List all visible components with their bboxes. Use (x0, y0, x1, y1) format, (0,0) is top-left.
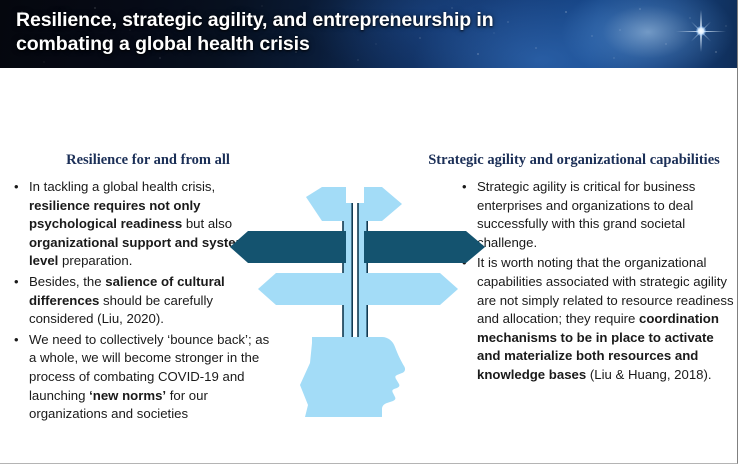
bullet-item: •It is worth noting that the organizatio… (462, 254, 734, 384)
bullet-marker: • (14, 178, 29, 197)
sign-top-arrow (306, 187, 402, 221)
signpost-head-graphic (230, 185, 492, 417)
right-column-bullets: •Strategic agility is critical for busin… (462, 178, 734, 387)
page-title: Resilience, strategic agility, and entre… (16, 8, 646, 56)
head-profile-icon (300, 337, 405, 417)
title-banner: Resilience, strategic agility, and entre… (0, 0, 738, 68)
right-column-heading: Strategic agility and organizational cap… (412, 152, 736, 169)
slide-canvas: Resilience, strategic agility, and entre… (0, 0, 738, 464)
bullet-item: •Strategic agility is critical for busin… (462, 178, 734, 252)
bullet-marker: • (14, 273, 29, 292)
bullet-marker: • (14, 331, 29, 350)
bullet-text: It is worth noting that the organization… (477, 254, 734, 384)
left-column-heading: Resilience for and from all (22, 152, 274, 169)
bullet-text: Strategic agility is critical for busine… (477, 178, 734, 252)
